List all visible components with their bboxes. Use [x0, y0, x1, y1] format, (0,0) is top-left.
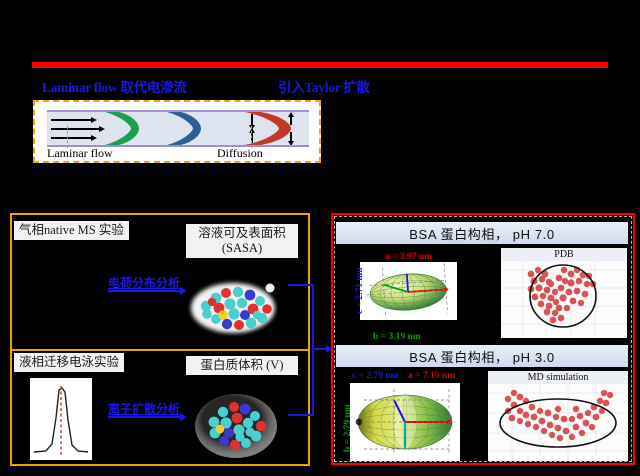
top-red-rule	[32, 62, 608, 68]
structure-caption-ph3: MD simulation	[488, 371, 628, 384]
flow-wedge-green	[105, 112, 139, 145]
flow-arrow-head-3	[91, 135, 97, 141]
ph3-a-label: a = 7.15 nm	[408, 371, 455, 381]
ellipsoid-3d-icon	[350, 383, 460, 461]
flow-wedge-blue	[167, 112, 201, 145]
structure-panel-ph7	[501, 248, 627, 338]
flow-arrow-head-2	[99, 126, 105, 132]
ph7-c-label: c = 2.71 nm	[355, 267, 365, 314]
flow-arrow-head-1	[91, 117, 97, 123]
connector-vertical	[312, 284, 314, 416]
connector-bottom-horizontal	[288, 414, 314, 416]
ellipsoid-panel-ph7	[360, 262, 457, 320]
flow-arrow-shaft-1	[51, 119, 91, 121]
bsa-ph3-title: BSA 蛋白构相， pH 3.0	[336, 345, 628, 367]
charge-analysis-arrow-head	[180, 287, 187, 295]
flow-arrow-shaft-2	[51, 128, 99, 130]
ph3-c-label: c = 2.79 nm	[352, 371, 399, 381]
electropherogram-peak-icon	[30, 378, 92, 460]
ellipsoid-3d-icon	[360, 262, 457, 320]
headline-right: 引入Taylor 扩散	[278, 76, 370, 96]
ion-diffusion-arrow-shaft	[108, 416, 180, 418]
left-group-divider	[10, 349, 310, 351]
charge-analysis-arrow-shaft	[108, 290, 180, 292]
ph7-b-label: b = 3.19 nm	[373, 332, 421, 342]
flow-label-right: Diffusion	[217, 146, 263, 161]
laminar-flow-figure: Laminar flow Diffusion	[33, 100, 321, 163]
protein-surface-icon	[188, 278, 278, 336]
headline-left: Laminar flow 取代电渗流	[42, 76, 186, 96]
flow-label-left: Laminar flow	[47, 146, 113, 161]
label-protein-volume-output: 蛋白质体积 (V)	[186, 356, 298, 375]
ellipsoid-panel-ph3	[350, 383, 460, 461]
ph7-a-label: a = 3.97 nm	[385, 252, 432, 262]
diffusion-arrow-head-4	[288, 141, 294, 146]
structure-panel-ph3	[488, 371, 628, 461]
protein-volume-icon	[192, 392, 280, 460]
label-charge-distribution-analysis: 电荷分布分析	[108, 274, 180, 291]
connector-out-horizontal	[312, 348, 326, 350]
label-solution-electrophoresis-experiment: 液相迁移电泳实验	[14, 353, 124, 372]
ion-diffusion-arrow-head	[180, 413, 187, 421]
label-ion-diffusion-analysis: 离子扩散分析	[108, 400, 180, 417]
guide-line-right	[251, 126, 252, 148]
flow-arrow-shaft-3	[51, 137, 91, 139]
bsa-ph7-title: BSA 蛋白构相， pH 7.0	[336, 222, 628, 244]
label-sasa-output: 溶液可及表面积(SASA)	[186, 224, 298, 258]
structure-caption-ph7: PDB	[501, 248, 627, 261]
connector-top-horizontal	[288, 284, 314, 286]
diffusion-arrow-head-3	[288, 112, 294, 117]
guide-line-left	[67, 126, 68, 148]
flow-channel	[47, 110, 309, 147]
label-gas-phase-ms-experiment: 气相native MS 实验	[14, 221, 129, 240]
ph3-b-label: b = 2.79 nm	[343, 404, 353, 452]
